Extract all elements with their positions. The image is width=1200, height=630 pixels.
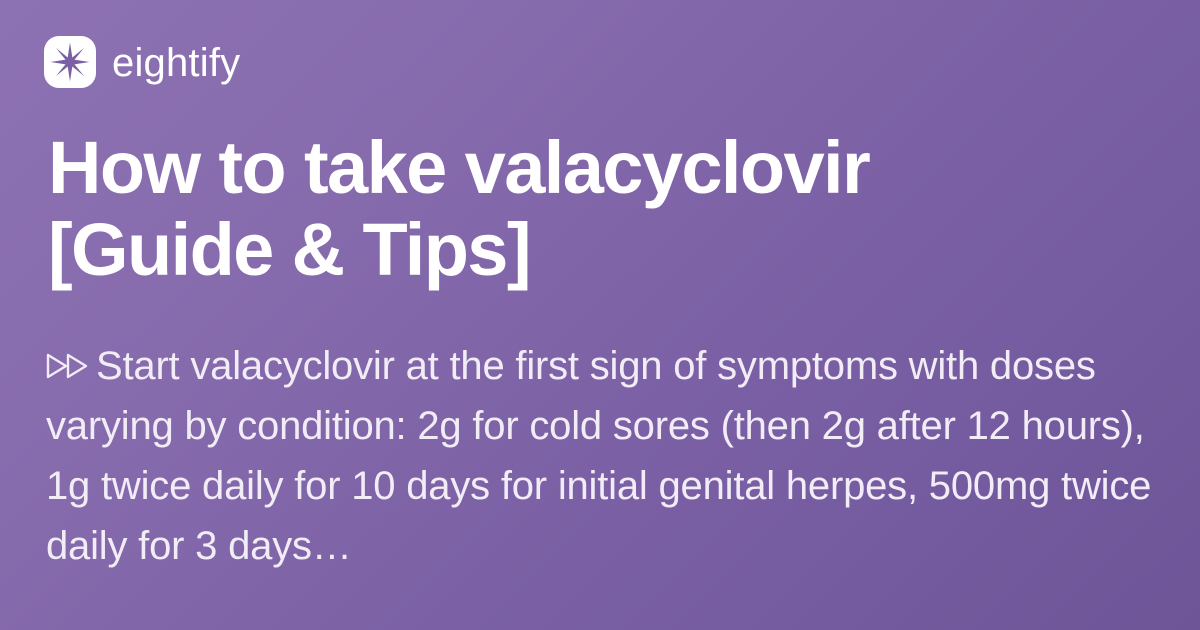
- fast-forward-icon: [46, 352, 90, 380]
- summary-text: Start valacyclovir at the first sign of …: [46, 336, 1164, 576]
- share-card: eightify How to take valacyclovir [Guide…: [0, 0, 1200, 630]
- brand-wordmark: eightify: [112, 43, 240, 83]
- page-title: How to take valacyclovir [Guide & Tips]: [48, 127, 1158, 291]
- eightify-star-burst-icon: [44, 36, 96, 88]
- brand-logo: eightify: [44, 36, 240, 88]
- summary-body: Start valacyclovir at the first sign of …: [46, 344, 1151, 568]
